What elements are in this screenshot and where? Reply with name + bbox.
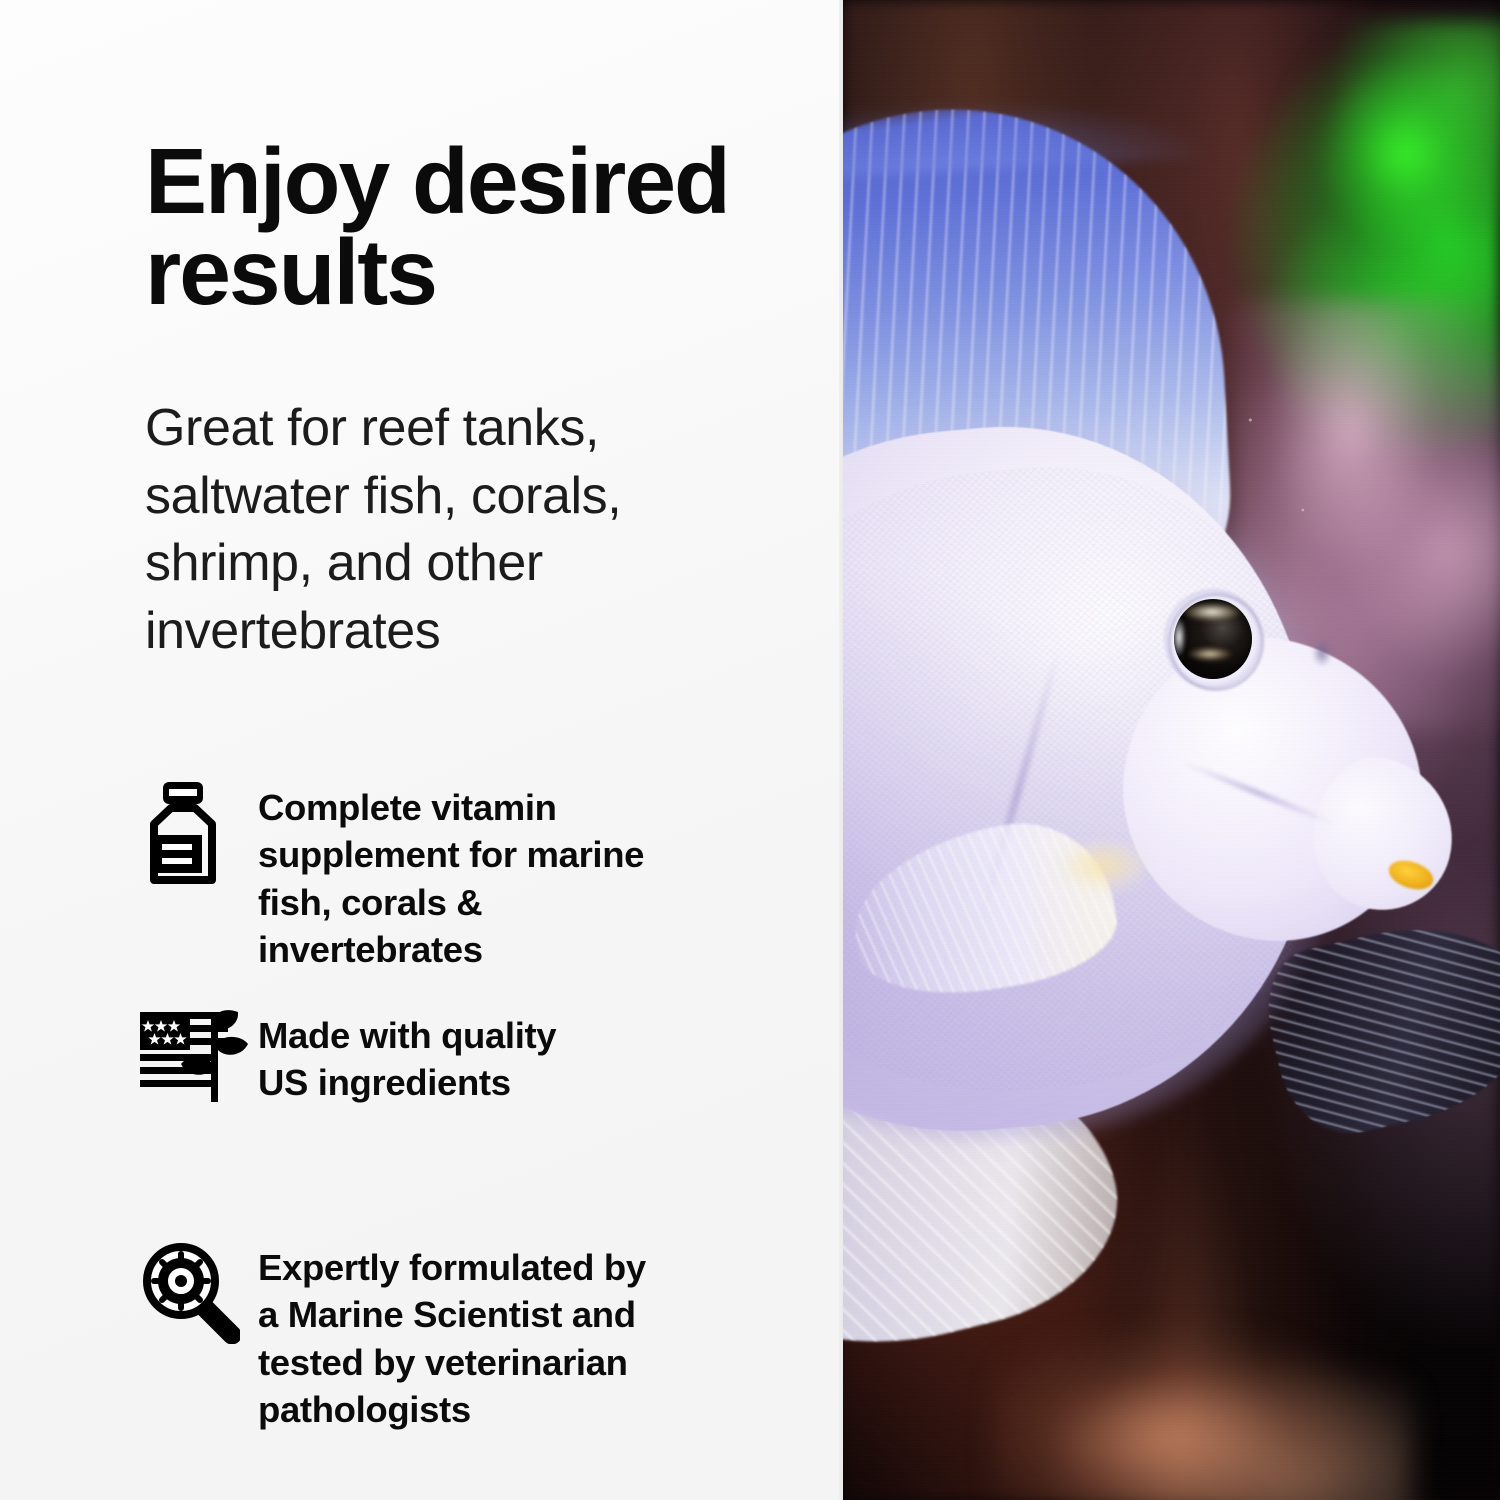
- text-panel: Enjoy desired results Great for reef tan…: [0, 0, 843, 1500]
- page-title: Enjoy desired results: [145, 136, 825, 318]
- tang-fish: [843, 0, 1500, 1500]
- product-feature-image: Enjoy desired results Great for reef tan…: [0, 0, 1500, 1500]
- pectoral-fin-base: [1058, 840, 1148, 892]
- feature-item-us-ingredients: Made with quality US ingredients: [140, 1004, 698, 1122]
- feature-item-expert-formulated: Expertly formulated by a Marine Scientis…: [140, 1236, 778, 1434]
- feature-item-vitamin-supplement: Complete vitamin supplement for marine f…: [140, 776, 768, 974]
- feature-item-label: Complete vitamin supplement for marine f…: [258, 776, 768, 974]
- feature-item-label: Made with quality US ingredients: [258, 1004, 698, 1107]
- magnifier-microbe-icon: [140, 1236, 258, 1354]
- supplement-bottle-icon: [140, 776, 258, 894]
- subheading: Great for reef tanks, saltwater fish, co…: [145, 395, 765, 665]
- fish-nostril: [1313, 640, 1331, 666]
- fish-eye: [1164, 589, 1262, 689]
- us-flag-plant-icon: [140, 1004, 258, 1122]
- feature-item-label: Expertly formulated by a Marine Scientis…: [258, 1236, 778, 1434]
- product-photo: [843, 0, 1500, 1500]
